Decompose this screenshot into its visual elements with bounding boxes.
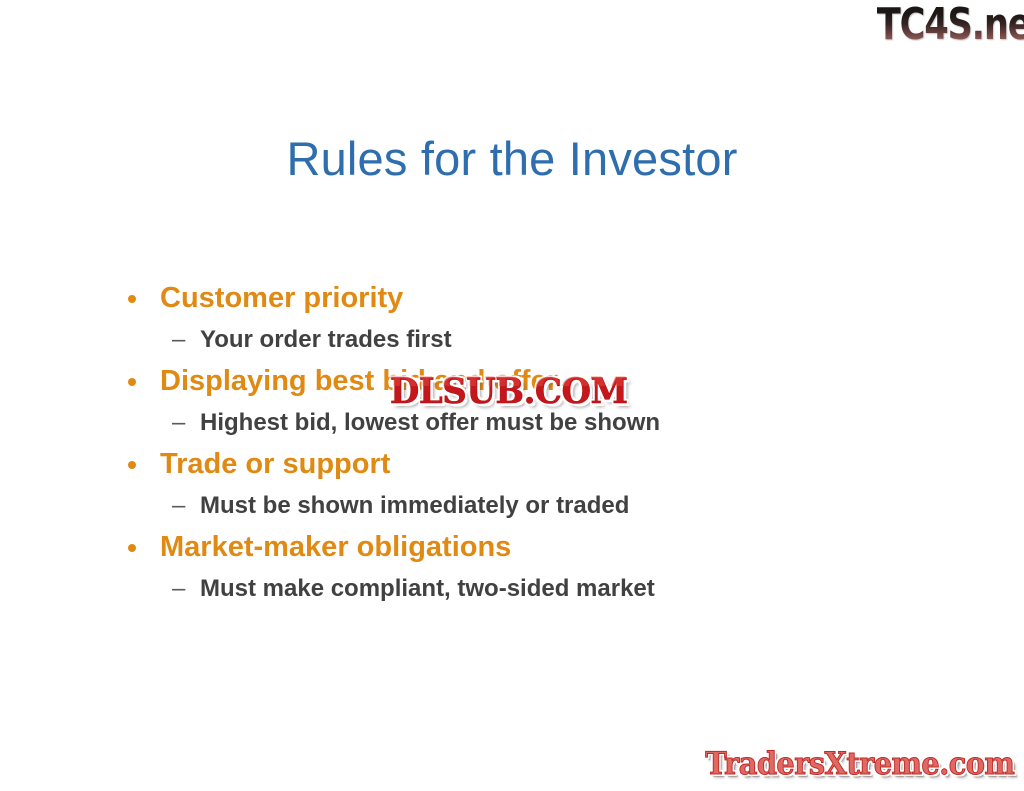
- bullet-dot-icon: [128, 295, 136, 303]
- dash-marker-icon: –: [172, 319, 185, 361]
- presentation-slide: TC4S.net Rules for the Investor Customer…: [0, 0, 1024, 791]
- bullet-group: Trade or support – Must be shown immedia…: [120, 444, 920, 527]
- bullet-level1: Trade or support: [120, 444, 920, 485]
- bullet-level2: – Your order trades first: [120, 319, 920, 361]
- tradersxtreme-logo-text: TradersXtreme.com: [705, 744, 1014, 784]
- bullet-list: Customer priority – Your order trades fi…: [120, 278, 920, 610]
- bullet-level1: Customer priority: [120, 278, 920, 319]
- bullet-level2-label: Must make compliant, two-sided market: [200, 575, 655, 602]
- bullet-group: Displaying best bid and offer – Highest …: [120, 361, 920, 444]
- bullet-dot-icon: [128, 461, 136, 469]
- bullet-dot-icon: [128, 378, 136, 386]
- dash-marker-icon: –: [172, 568, 185, 610]
- dash-marker-icon: –: [172, 402, 185, 444]
- bullet-group: Market-maker obligations – Must make com…: [120, 527, 920, 610]
- tradersxtreme-logo: TradersXtreme.com: [690, 744, 1020, 788]
- bullet-level1: Displaying best bid and offer: [120, 361, 920, 402]
- bullet-dot-icon: [128, 544, 136, 552]
- bullet-level2: – Must be shown immediately or traded: [120, 485, 920, 527]
- bullet-level2-label: Highest bid, lowest offer must be shown: [200, 409, 660, 436]
- bullet-level1: Market-maker obligations: [120, 527, 920, 568]
- tc4s-logo-text: TC4S.net: [877, 1, 1024, 49]
- bullet-group: Customer priority – Your order trades fi…: [120, 278, 920, 361]
- tc4s-logo: TC4S.net: [840, 0, 1024, 56]
- bullet-level1-label: Trade or support: [160, 448, 390, 480]
- bullet-level2: – Must make compliant, two-sided market: [120, 568, 920, 610]
- slide-title: Rules for the Investor: [62, 130, 962, 188]
- dash-marker-icon: –: [172, 485, 185, 527]
- bullet-level2: – Highest bid, lowest offer must be show…: [120, 402, 920, 444]
- bullet-level1-label: Displaying best bid and offer: [160, 365, 558, 397]
- bullet-level2-label: Must be shown immediately or traded: [200, 492, 629, 519]
- bullet-level1-label: Market-maker obligations: [160, 531, 511, 563]
- bullet-level2-label: Your order trades first: [200, 326, 452, 353]
- bullet-level1-label: Customer priority: [160, 282, 403, 314]
